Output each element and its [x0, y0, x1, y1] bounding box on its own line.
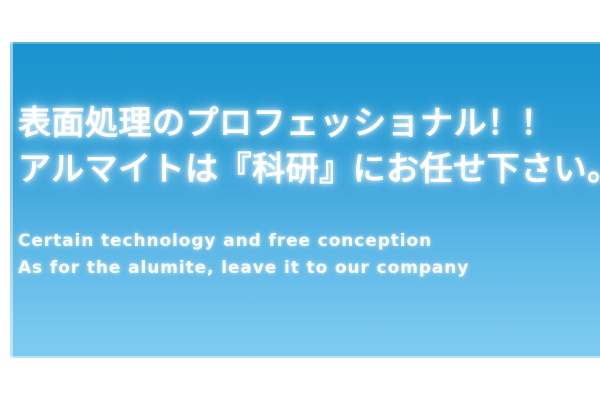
- banner-top-highlight: [10, 42, 600, 44]
- subtext-block: Certain technology and free conception A…: [18, 228, 600, 282]
- banner-left-highlight: [10, 42, 13, 358]
- banner-canvas: 表面処理のプロフェッショナル！！ アルマイトは『科研』にお任せ下さい。 Cert…: [0, 0, 600, 400]
- subtext-line-1: Certain technology and free conception: [18, 228, 600, 255]
- subtext-line-2: As for the alumite, leave it to our comp…: [18, 255, 600, 282]
- headline-line-1: 表面処理のプロフェッショナル！！: [18, 100, 600, 146]
- promotional-banner: 表面処理のプロフェッショナル！！ アルマイトは『科研』にお任せ下さい。 Cert…: [10, 42, 600, 358]
- banner-bottom-highlight: [10, 356, 600, 358]
- headline-line-2: アルマイトは『科研』にお任せ下さい。: [18, 146, 600, 192]
- headline-block: 表面処理のプロフェッショナル！！ アルマイトは『科研』にお任せ下さい。: [18, 100, 600, 192]
